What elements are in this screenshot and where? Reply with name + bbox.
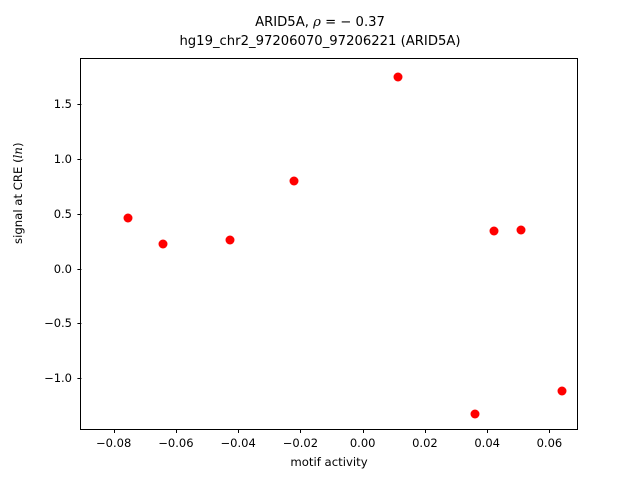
plot-axes-frame: −0.08−0.06−0.04−0.020.000.020.040.06−1.0… — [80, 58, 578, 430]
x-axis-label: motif activity — [80, 455, 578, 469]
y-axis-tick — [77, 323, 81, 324]
y-axis-tick — [77, 378, 81, 379]
x-axis-tick — [114, 429, 115, 433]
x-axis-tick — [176, 429, 177, 433]
x-axis-tick-label: 0.06 — [537, 436, 563, 450]
x-axis-tick — [300, 429, 301, 433]
x-axis-tick-label: 0.02 — [412, 436, 438, 450]
y-axis-tick — [77, 159, 81, 160]
y-axis-tick-label: 0.5 — [54, 207, 72, 221]
y-axis-tick-label: −0.5 — [44, 316, 72, 330]
scatter-plot-area — [81, 59, 577, 429]
ln-italic: ln — [11, 147, 25, 158]
y-axis-tick-label: 1.5 — [54, 97, 72, 111]
scatter-point — [290, 176, 299, 185]
x-axis-tick — [425, 429, 426, 433]
scatter-point — [490, 227, 499, 236]
y-axis-tick — [77, 214, 81, 215]
rho-symbol: ρ — [313, 15, 321, 30]
x-axis-tick-label: −0.06 — [158, 436, 193, 450]
x-axis-tick-label: 0.04 — [474, 436, 500, 450]
scatter-point — [516, 226, 525, 235]
x-axis-tick-label: −0.04 — [221, 436, 256, 450]
scatter-point — [470, 410, 479, 419]
x-axis-tick — [238, 429, 239, 433]
y-axis-tick — [77, 104, 81, 105]
y-axis-tick-label: 1.0 — [54, 152, 72, 166]
figure-canvas: ARID5A, ρ = − 0.37 hg19_chr2_97206070_97… — [0, 0, 640, 480]
scatter-point — [393, 72, 402, 81]
scatter-point — [226, 235, 235, 244]
chart-title-block: ARID5A, ρ = − 0.37 hg19_chr2_97206070_97… — [0, 13, 640, 51]
y-axis-tick — [77, 269, 81, 270]
y-axis-label: signal at CRE (ln) — [11, 142, 25, 244]
scatter-point — [123, 213, 132, 222]
scatter-point — [557, 386, 566, 395]
chart-title-line-1: ARID5A, ρ = − 0.37 — [0, 13, 640, 32]
scatter-point — [159, 240, 168, 249]
chart-title-line-2: hg19_chr2_97206070_97206221 (ARID5A) — [0, 32, 640, 51]
x-axis-tick-label: −0.08 — [96, 436, 131, 450]
x-axis-tick — [487, 429, 488, 433]
x-axis-tick — [363, 429, 364, 433]
x-axis-tick — [549, 429, 550, 433]
x-axis-tick-label: 0.00 — [350, 436, 376, 450]
y-axis-tick-label: 0.0 — [54, 262, 72, 276]
y-axis-tick-label: −1.0 — [44, 371, 72, 385]
x-axis-tick-label: −0.02 — [283, 436, 318, 450]
